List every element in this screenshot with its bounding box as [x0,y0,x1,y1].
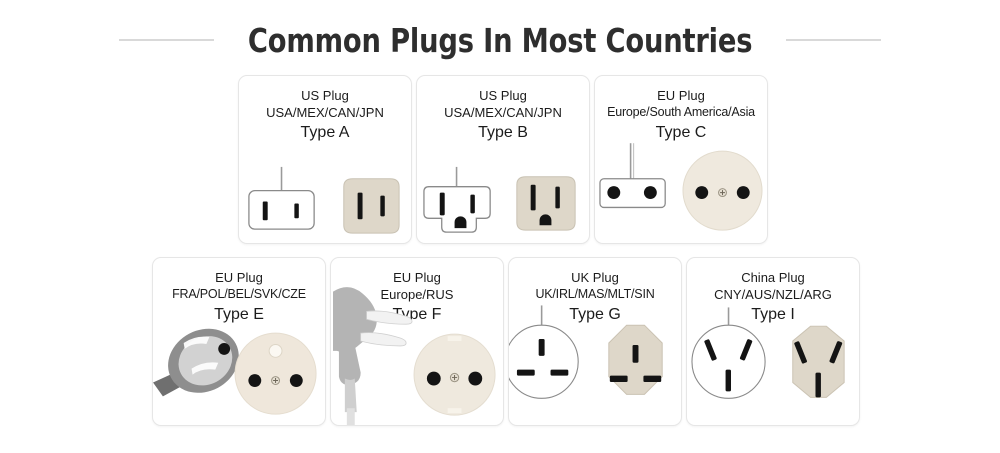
us-type-a-socket-icon [344,179,399,233]
plug-card-type-g[interactable]: UK Plug UK/IRL/MAS/MLT/SIN Type G [508,257,682,426]
plug-and-socket-illustration [153,258,325,425]
plug-and-socket-illustration [687,258,859,425]
eu-type-e-socket-icon [235,333,316,414]
plug-types-infographic: Common Plugs In Most Countries US Plug U… [0,0,1000,453]
page-title: Common Plugs In Most Countries [248,24,752,57]
plug-card-type-a[interactable]: US Plug USA/MEX/CAN/JPN Type A [238,75,412,244]
plug-card-type-f[interactable]: EU Plug Europe/RUS Type F [330,257,504,426]
plug-card-row-top: US Plug USA/MEX/CAN/JPN Type A [238,75,768,244]
plug-and-socket-illustration [331,258,503,425]
plug-and-socket-illustration [509,258,681,425]
plug-card-type-b[interactable]: US Plug USA/MEX/CAN/JPN Type B [416,75,590,244]
plug-card-row-bottom: EU Plug FRA/POL/BEL/SVK/CZE Type E [152,257,860,426]
us-type-a-plug-icon [249,191,314,230]
uk-type-g-socket-icon [609,325,662,394]
plug-and-socket-illustration [239,76,411,243]
eu-type-f-socket-icon [414,334,495,415]
title-rule-left [119,39,214,41]
china-type-i-plug-icon [692,325,765,398]
eu-type-c-plug-icon [600,179,665,208]
eu-type-f-plug-icon [333,287,412,425]
eu-type-c-socket-icon [683,151,762,230]
eu-type-e-plug-icon [153,317,250,405]
plug-and-socket-illustration [595,76,767,243]
plug-and-socket-illustration [417,76,589,243]
plug-card-type-i[interactable]: China Plug CNY/AUS/NZL/ARG Type I [686,257,860,426]
uk-type-g-plug-icon [509,325,578,398]
us-type-b-plug-icon [424,187,490,232]
page-header: Common Plugs In Most Countries [0,18,1000,62]
us-type-b-socket-icon [517,177,575,230]
plug-card-type-c[interactable]: EU Plug Europe/South America/Asia Type C [594,75,768,244]
title-rule-right [786,39,881,41]
china-type-i-socket-icon [793,326,844,397]
plug-card-type-e[interactable]: EU Plug FRA/POL/BEL/SVK/CZE Type E [152,257,326,426]
